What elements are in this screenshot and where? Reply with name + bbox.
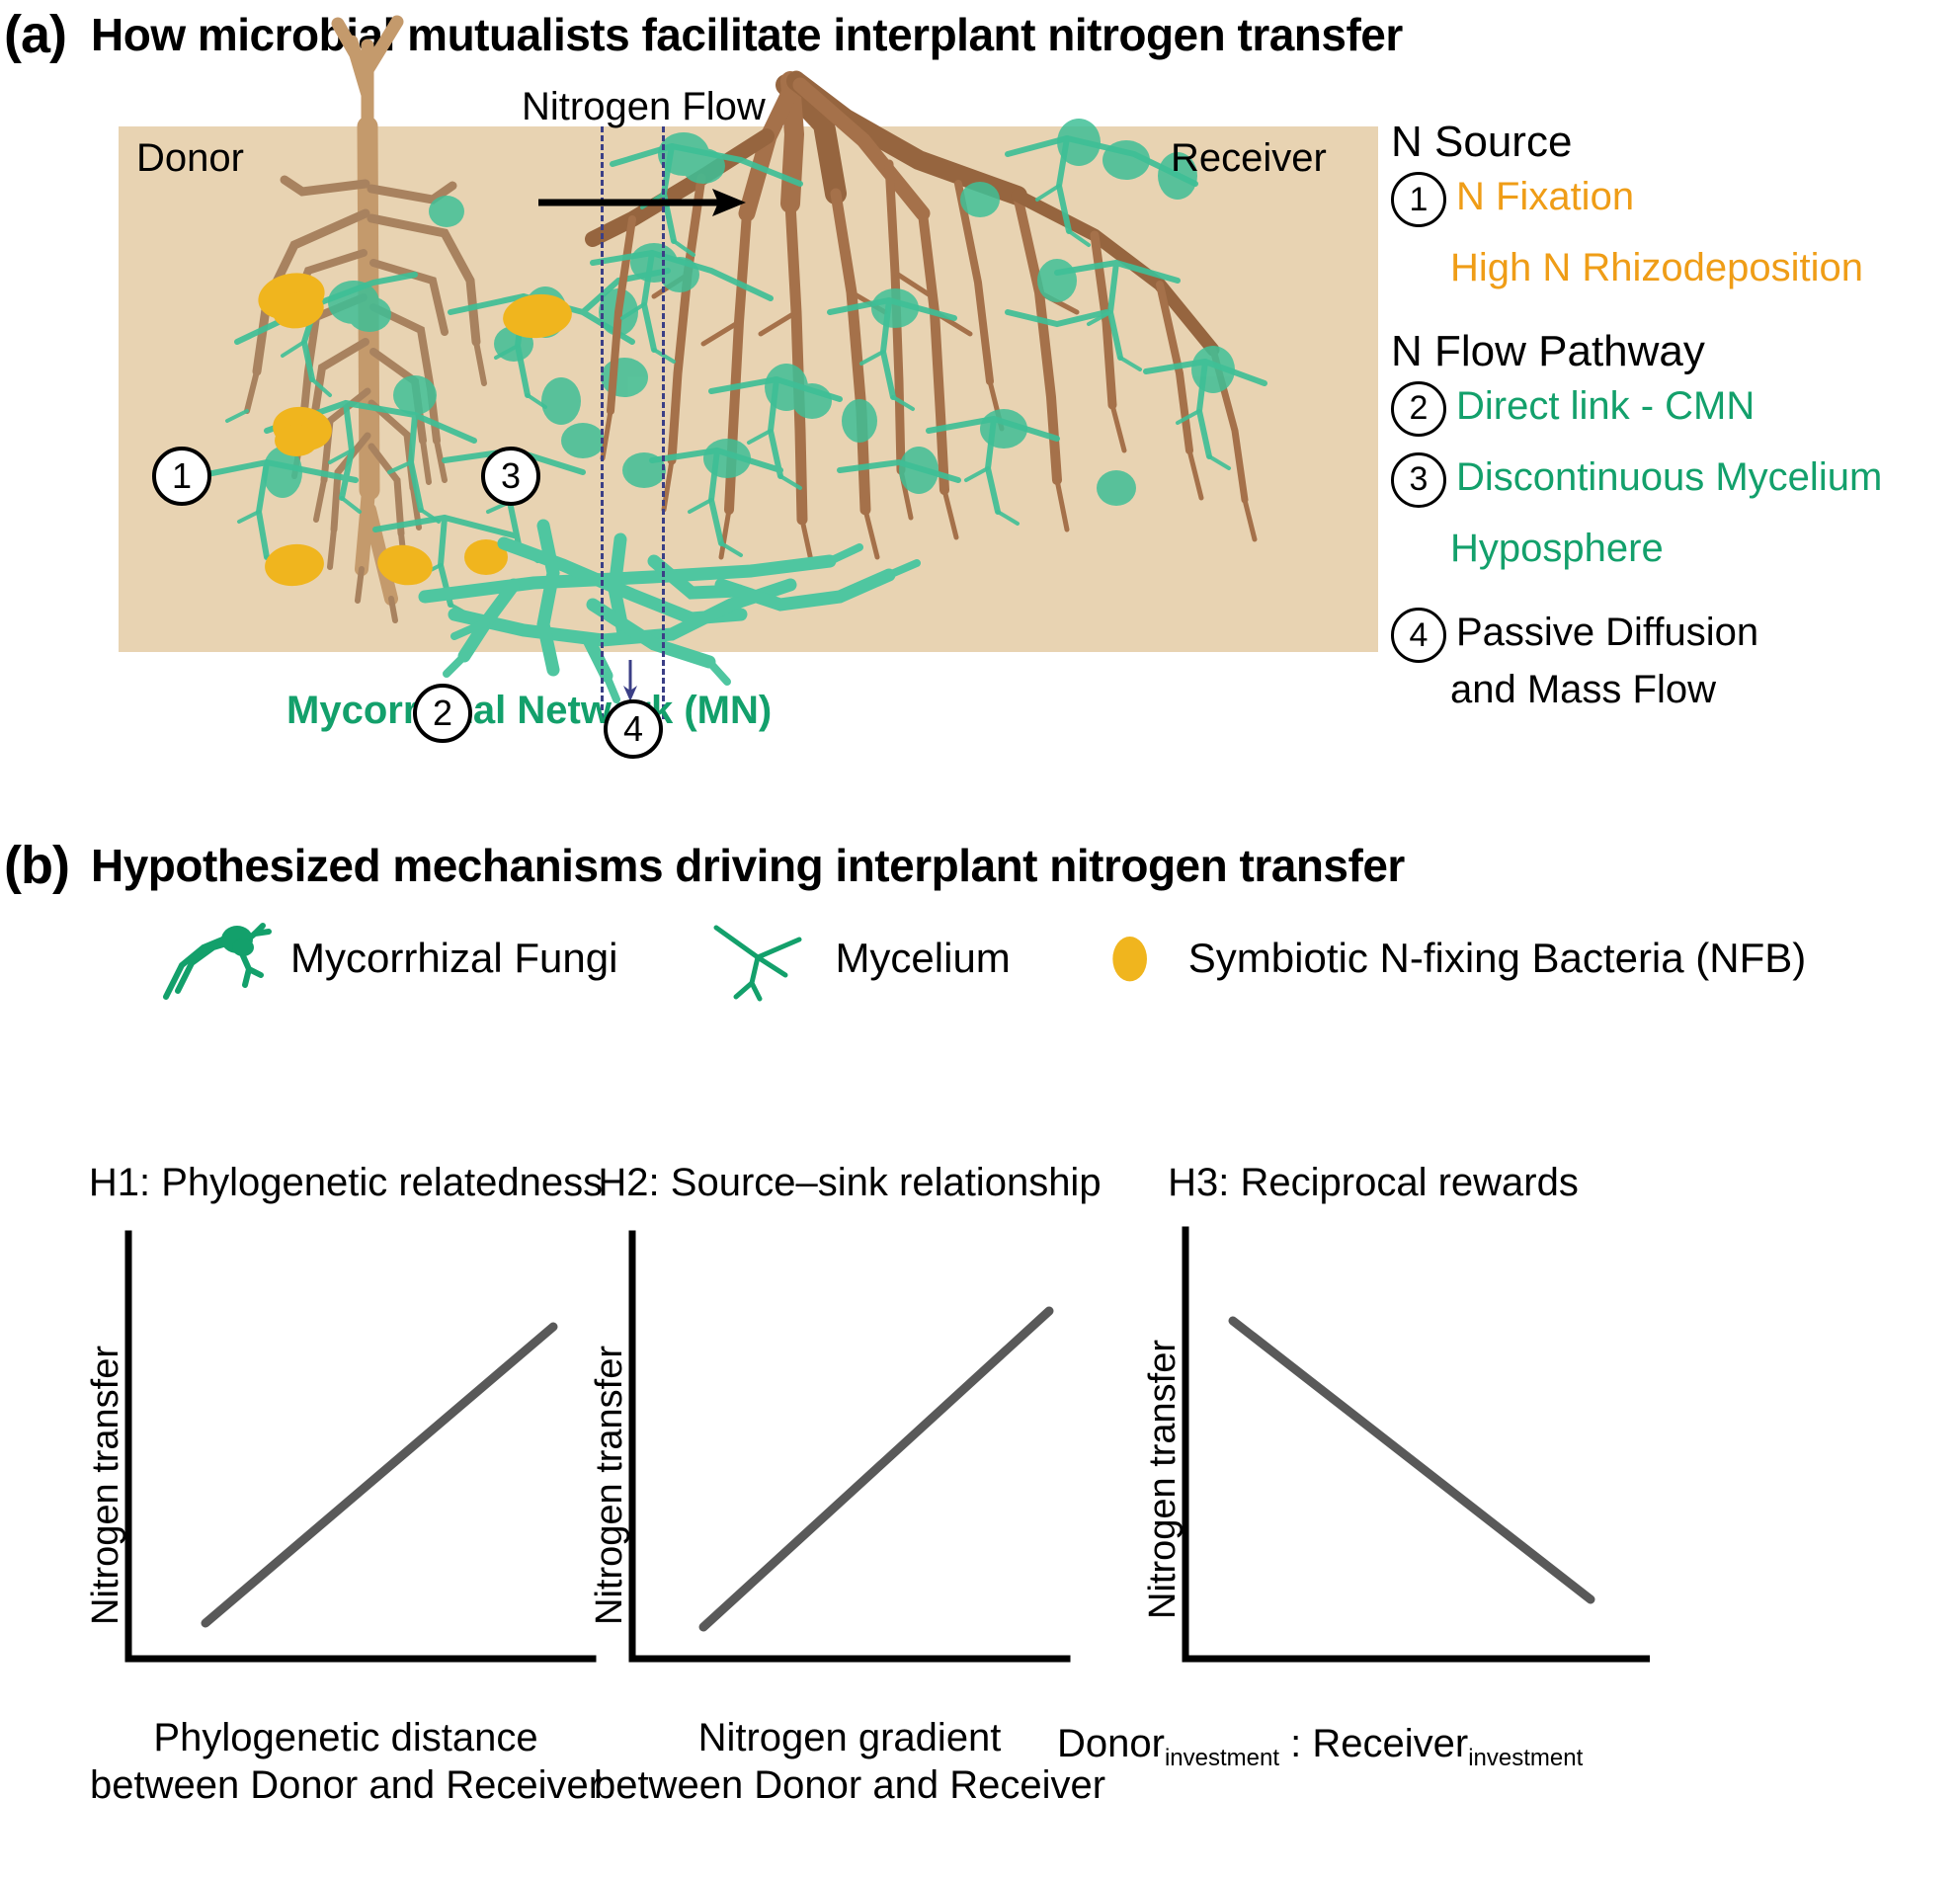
key-item-mycorrhizal-fungi: Mycorrhizal Fungi xyxy=(158,914,617,1003)
legend-item-n-fixation: 1 N Fixation xyxy=(1391,172,1960,227)
diagram-marker-2: 2 xyxy=(413,684,472,743)
donor-label: Donor xyxy=(136,136,244,181)
mycorrhizal-network-caption: Mycorrhizal Network (MN) xyxy=(286,689,772,733)
plot-h3-ylabel: Nitrogen transfer xyxy=(1142,1340,1184,1619)
plot-h3-title: H3: Reciprocal rewards xyxy=(1067,1161,1679,1205)
mycorrhizal-fungi-icon xyxy=(158,914,277,1003)
plot-h3: H3: Reciprocal rewards Nitrogen transfer… xyxy=(1037,1161,1650,1879)
key-label-mycorrhizal-fungi: Mycorrhizal Fungi xyxy=(290,935,617,982)
plot-h1-trend-line xyxy=(205,1327,553,1623)
key-item-nfixing-bacteria: Symbiotic N-fixing Bacteria (NFB) xyxy=(1096,914,1806,1003)
plot-h3-area: Nitrogen transfer xyxy=(1037,1224,1650,1698)
legend-label-discontinuous-mycelium: Discontinuous Mycelium xyxy=(1456,452,1882,503)
receiver-label: Receiver xyxy=(1171,136,1327,181)
plot-h1-ylabel: Nitrogen transfer xyxy=(85,1346,127,1625)
plot-h1-xlabel-line1: Phylogenetic distance xyxy=(153,1716,537,1759)
legend-label-direct-link-cmn: Direct link - CMN xyxy=(1456,381,1755,432)
legend-label-and-mass-flow: and Mass Flow xyxy=(1450,665,1960,715)
nfixing-bacteria-icon xyxy=(1096,914,1175,1003)
symbol-key-row: Mycorrhizal Fungi Mycelium Symbiotic N-f… xyxy=(148,904,1960,1013)
common-mycorrhizal-network-bridge xyxy=(395,466,948,723)
legend-label-passive-diffusion: Passive Diffusion xyxy=(1456,608,1758,658)
legend-item-discontinuous-mycelium: 3 Discontinuous Mycelium xyxy=(1391,452,1960,508)
plot-h2-xlabel-line1: Nitrogen gradient xyxy=(698,1716,1002,1759)
plot-h2-ylabel: Nitrogen transfer xyxy=(589,1346,631,1625)
legend-item-direct-link-cmn: 2 Direct link - CMN xyxy=(1391,381,1960,437)
legend-num-4: 4 xyxy=(1391,608,1446,663)
plot-h2-xlabel-line2: between Donor and Receiver xyxy=(594,1763,1105,1807)
diagram-marker-1: 1 xyxy=(152,447,211,506)
diagram-marker-4: 4 xyxy=(604,699,663,759)
legend-heading-n-source: N Source xyxy=(1391,119,1960,166)
hypothesis-plots: H1: Phylogenetic relatedness Nitrogen tr… xyxy=(0,1161,1960,1879)
panel-a-letter: (a) xyxy=(4,4,66,65)
panel-b-letter: (b) xyxy=(4,835,69,896)
diagram-legend: N Source 1 N Fixation High N Rhizodeposi… xyxy=(1391,119,1960,715)
plot-h3-xlabel-sub2: investment xyxy=(1468,1745,1583,1771)
plot-h1-xlabel-line2: between Donor and Receiver xyxy=(90,1763,602,1807)
plot-h3-xlabel-mid: : Receiver xyxy=(1279,1722,1468,1765)
key-item-mycelium: Mycelium xyxy=(702,914,1010,1003)
legend-num-1: 1 xyxy=(1391,172,1446,227)
plot-h3-trend-line xyxy=(1233,1321,1591,1599)
nitrogen-flow-arrow-icon xyxy=(538,188,746,217)
legend-heading-n-flow-pathway: N Flow Pathway xyxy=(1391,328,1960,375)
mycelium-icon xyxy=(702,914,821,1003)
legend-label-n-fixation: N Fixation xyxy=(1456,172,1634,222)
legend-item-passive-diffusion: 4 Passive Diffusion xyxy=(1391,608,1960,663)
plot-h3-xlabel-sub1: investment xyxy=(1165,1745,1279,1771)
legend-label-hyposphere: Hyposphere xyxy=(1450,524,1960,574)
legend-num-2: 2 xyxy=(1391,381,1446,437)
plot-h1-axes xyxy=(128,1234,593,1659)
nitrogen-flow-label: Nitrogen Flow xyxy=(522,85,766,129)
plot-h2-axes xyxy=(632,1234,1067,1659)
panel-b-title: Hypothesized mechanisms driving interpla… xyxy=(91,839,1405,892)
plot-h3-xlabel-prefix: Donor xyxy=(1057,1722,1165,1765)
diagram-marker-3: 3 xyxy=(481,447,540,506)
legend-num-3: 3 xyxy=(1391,452,1446,508)
key-label-nfixing-bacteria: Symbiotic N-fixing Bacteria (NFB) xyxy=(1188,935,1806,982)
key-label-mycelium: Mycelium xyxy=(835,935,1010,982)
plot-h3-xlabel: Donorinvestment : Receiverinvestment xyxy=(1057,1720,1709,1773)
plot-h2-trend-line xyxy=(703,1311,1049,1627)
legend-label-high-n-rhizodeposition: High N Rhizodeposition xyxy=(1450,243,1960,293)
